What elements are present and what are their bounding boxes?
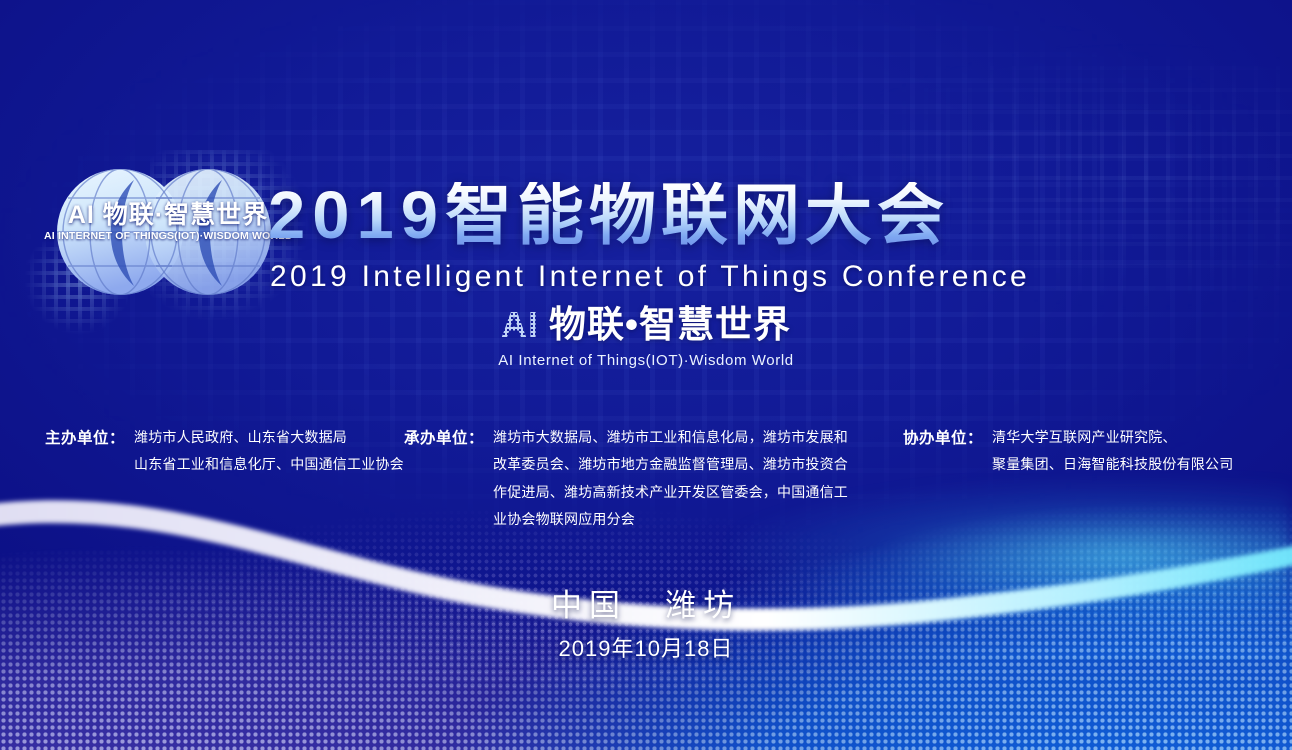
organizer-line: 作促进局、潍坊高新技术产业开发区管委会，中国通信工 [493,479,874,506]
organizer-line: 潍坊市大数据局、潍坊市工业和信息化局，潍坊市发展和 [493,424,874,451]
organizer-line: 清华大学互联网产业研究院、 [992,424,1233,451]
logo-chinese-text: AI 物联·智慧世界 [52,203,284,228]
venue-city: 中国 潍坊 [0,588,1292,624]
title-chinese: 智能物联网大会 [445,178,949,253]
organizer-line: 山东省工业和信息化厅、中国通信工业协会 [134,451,404,478]
brand-lockup: AI 物联•智慧世界 AI Internet of Things(IOT)·Wi… [0,306,1292,369]
venue-section: 中国 潍坊 2019年10月18日 [0,588,1292,663]
logo-english-text: AI INTERNET OF THINGS(IOT)·WISDOM WORLD [44,231,292,242]
venue-date: 2019年10月18日 [0,631,1292,663]
brand-row: AI 物联•智慧世界 [501,306,791,343]
organizer-label-undertaker: 承办单位： [404,426,484,448]
organizer-block-coorganizer: 协办单位： 清华大学互联网产业研究院、 聚量集团、日海智能科技股份有限公司 [903,424,1233,479]
conference-poster: AI 物联·智慧世界 AI INTERNET OF THINGS(IOT)·WI… [0,0,1292,750]
organizer-lines-undertaker: 潍坊市大数据局、潍坊市工业和信息化局，潍坊市发展和 改革委员会、潍坊市地方金融监… [493,424,874,533]
organizer-lines-coorganizer: 清华大学互联网产业研究院、 聚量集团、日海智能科技股份有限公司 [992,424,1233,479]
organizer-label-coorganizer: 协办单位： [903,426,983,448]
organizer-block-undertaker: 承办单位： 潍坊市大数据局、潍坊市工业和信息化局，潍坊市发展和 改革委员会、潍坊… [404,424,874,533]
title-english-subtitle: 2019 Intelligent Internet of Things Conf… [270,262,1250,292]
brand-chinese-text: 物联•智慧世界 [549,306,791,343]
organizer-line: 潍坊市人民政府、山东省大数据局 [134,424,404,451]
title-year: 2019 [268,178,445,253]
page-title: 2019智能物联网大会 [268,182,1248,249]
brand-ai-text: AI [501,307,539,343]
organizer-block-host: 主办单位： 潍坊市人民政府、山东省大数据局 山东省工业和信息化厅、中国通信工业协… [45,424,404,479]
organizer-line: 改革委员会、潍坊市地方金融监督管理局、潍坊市投资合 [493,451,874,478]
brand-english-text: AI Internet of Things(IOT)·Wisdom World [0,352,1292,369]
organizer-label-host: 主办单位： [45,426,125,448]
organizer-line: 聚量集团、日海智能科技股份有限公司 [992,451,1233,478]
organizer-lines-host: 潍坊市人民政府、山东省大数据局 山东省工业和信息化厅、中国通信工业协会 [134,424,404,479]
organizers-section: 主办单位： 潍坊市人民政府、山东省大数据局 山东省工业和信息化厅、中国通信工业协… [0,424,1292,534]
organizer-line: 业协会物联网应用分会 [493,506,874,533]
